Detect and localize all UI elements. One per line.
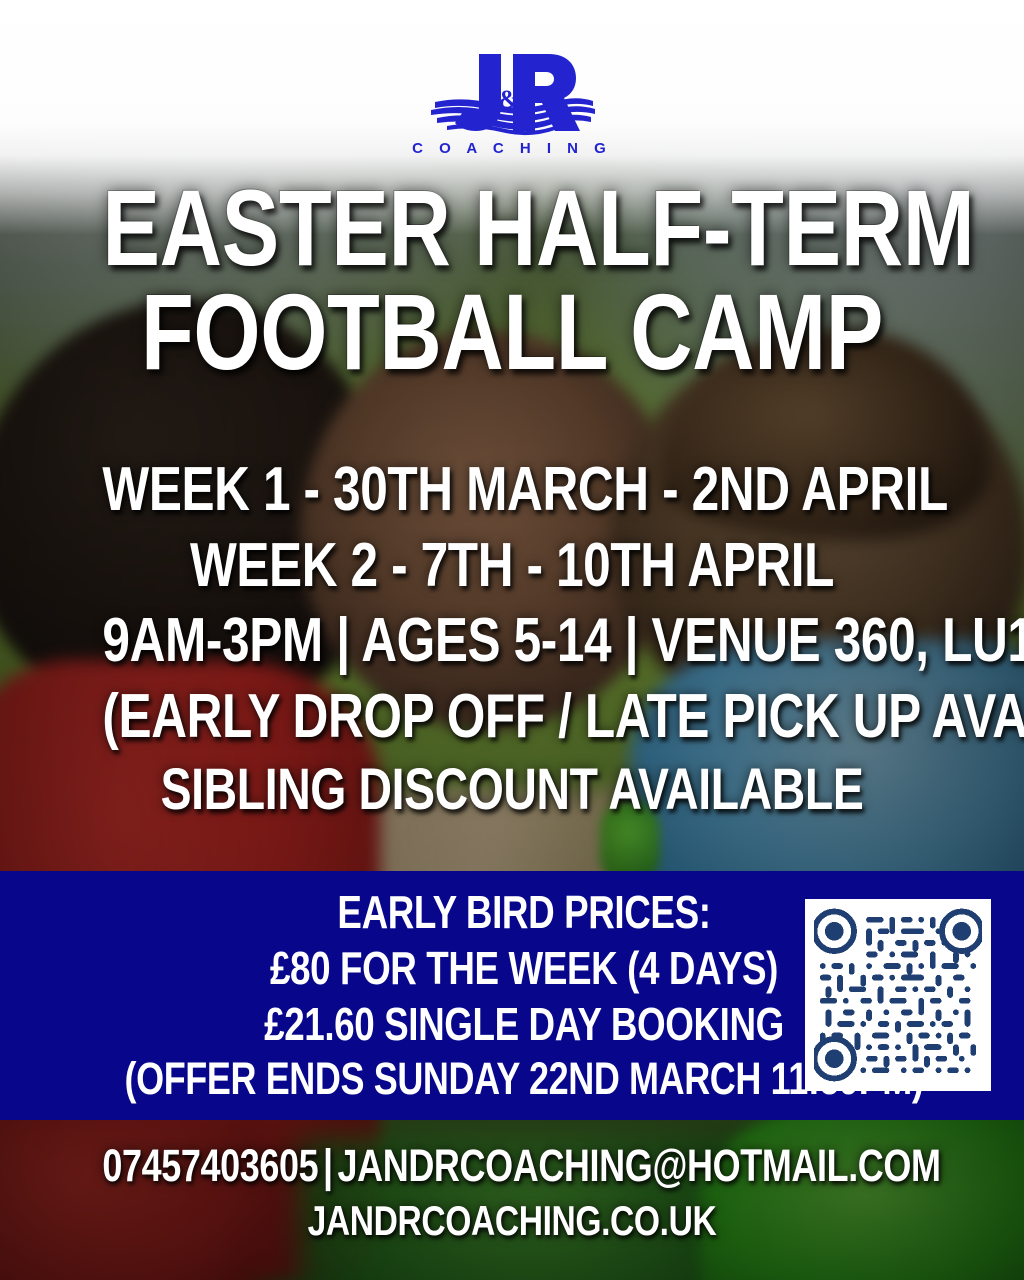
camp-details: WEEK 1 - 30TH MARCH - 2ND APRIL WEEK 2 -… bbox=[0, 452, 1024, 825]
detail-week-2: WEEK 2 - 7TH - 10TH APRIL bbox=[102, 528, 921, 604]
headline-line-1: EASTER HALF-TERM bbox=[102, 176, 921, 280]
price-week: £80 FOR THE WEEK (4 DAYS) bbox=[124, 940, 924, 996]
headline: EASTER HALF-TERM FOOTBALL CAMP bbox=[0, 176, 1024, 383]
detail-sibling-discount: SIBLING DISCOUNT AVAILABLE bbox=[102, 755, 921, 826]
footer-website[interactable]: JANDRCOACHING.CO.UK bbox=[102, 1195, 921, 1248]
detail-week-1: WEEK 1 - 30TH MARCH - 2ND APRIL bbox=[102, 452, 921, 528]
qr-code[interactable] bbox=[805, 899, 991, 1091]
brand-logo: & C O A C H I N G bbox=[0, 46, 1024, 157]
headline-line-2: FOOTBALL CAMP bbox=[102, 280, 921, 384]
footer-phone[interactable]: 07457403605 bbox=[102, 1140, 318, 1191]
footer-email[interactable]: JANDRCOACHING@HOTMAIL.COM bbox=[338, 1140, 941, 1191]
footer-contact-line: 07457403605|JANDRCOACHING@HOTMAIL.COM bbox=[102, 1138, 921, 1195]
price-heading: EARLY BIRD PRICES: bbox=[124, 884, 924, 940]
logo-subtitle: C O A C H I N G bbox=[412, 140, 612, 157]
jr-coaching-logo-icon: & bbox=[417, 46, 607, 136]
footer-separator: | bbox=[318, 1138, 337, 1195]
detail-dropoff-pickup: (EARLY DROP OFF / LATE PICK UP AVAILABLE… bbox=[102, 679, 921, 755]
price-offer-ends: (OFFER ENDS SUNDAY 22ND MARCH 11:59PM) bbox=[124, 1052, 924, 1107]
poster-canvas: & C O A C H I N G EASTER HALF-TERM FOOTB… bbox=[0, 0, 1024, 1280]
price-single-day: £21.60 SINGLE DAY BOOKING bbox=[124, 996, 924, 1052]
contact-footer: 07457403605|JANDRCOACHING@HOTMAIL.COM JA… bbox=[0, 1138, 1024, 1248]
detail-times-ages-venue: 9AM-3PM | AGES 5-14 | VENUE 360, LU1 3JH bbox=[102, 603, 921, 679]
